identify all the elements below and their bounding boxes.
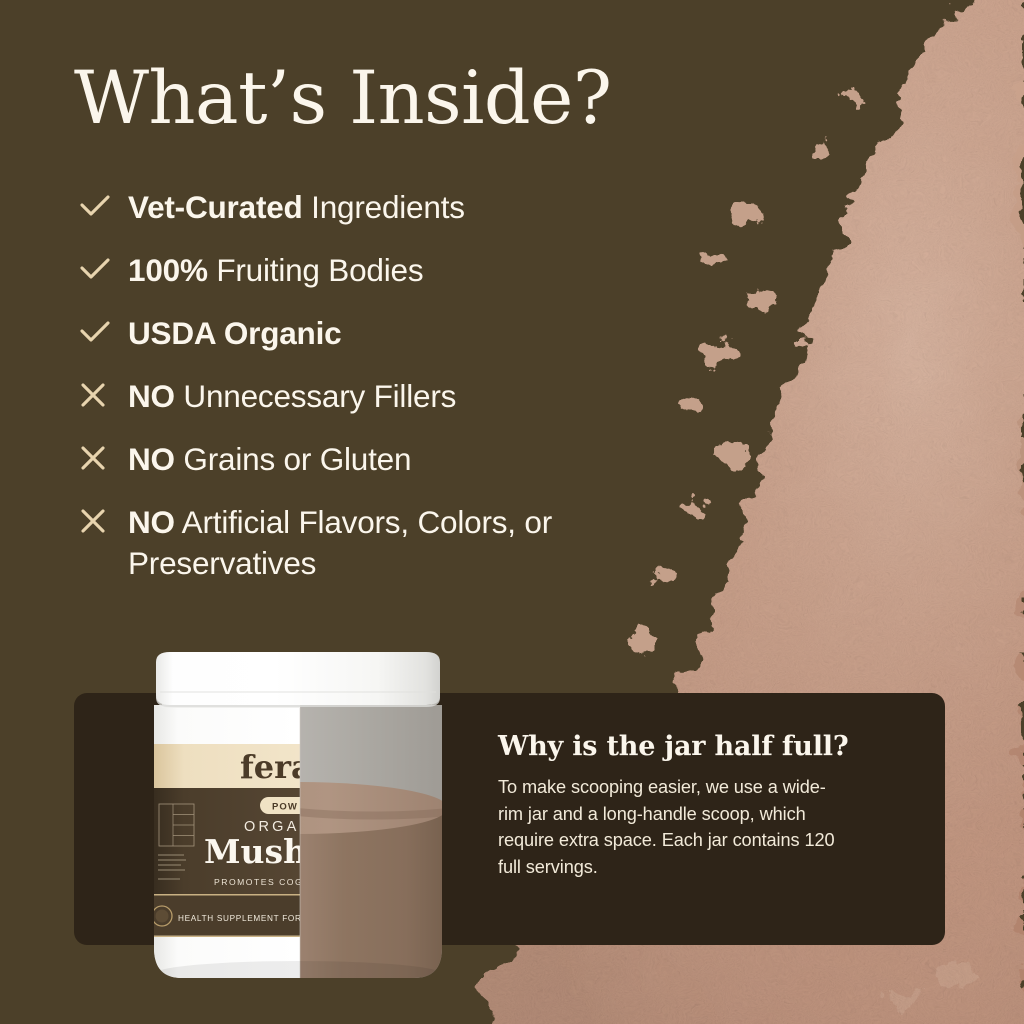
feature-rest: Grains or Gluten bbox=[175, 441, 411, 477]
feature-label: Vet-Curated Ingredients bbox=[128, 186, 465, 228]
feature-label: USDA Organic bbox=[128, 312, 341, 354]
product-jar: fera POW ORGA Mushr PROMOTES COGNITIV HE… bbox=[148, 648, 448, 984]
badge-label: POW bbox=[272, 802, 298, 813]
feature-rest: Unnecessary Fillers bbox=[175, 378, 456, 414]
feature-label: 100% Fruiting Bodies bbox=[128, 249, 423, 291]
jar-lid bbox=[156, 652, 440, 707]
check-icon bbox=[74, 312, 128, 352]
feature-item: NO Unnecessary Fillers bbox=[74, 375, 714, 417]
feature-emphasis: NO bbox=[128, 378, 175, 414]
feature-item: NO Artificial Flavors, Colors, or Preser… bbox=[74, 501, 714, 584]
feature-rest: Ingredients bbox=[303, 189, 465, 225]
check-icon bbox=[74, 186, 128, 226]
feature-item: USDA Organic bbox=[74, 312, 714, 354]
info-card-text: Why is the jar half full? To make scoopi… bbox=[498, 731, 898, 880]
feature-item: NO Grains or Gluten bbox=[74, 438, 714, 480]
cross-icon bbox=[74, 438, 128, 478]
feature-label: NO Unnecessary Fillers bbox=[128, 375, 456, 417]
feature-list: Vet-Curated Ingredients 100% Fruiting Bo… bbox=[74, 186, 714, 584]
feature-item: Vet-Curated Ingredients bbox=[74, 186, 714, 228]
feature-rest: Fruiting Bodies bbox=[208, 252, 424, 288]
product-jar-graphic: fera POW ORGA Mushr PROMOTES COGNITIV HE… bbox=[148, 648, 448, 984]
info-card-body: To make scooping easier, we use a wide-r… bbox=[498, 774, 848, 880]
feature-emphasis: Vet-Curated bbox=[128, 189, 303, 225]
feature-emphasis: USDA Organic bbox=[128, 315, 341, 351]
feature-rest: Artificial Flavors, Colors, or Preservat… bbox=[128, 504, 552, 581]
feature-emphasis: NO bbox=[128, 441, 175, 477]
feature-emphasis: 100% bbox=[128, 252, 208, 288]
check-icon bbox=[74, 249, 128, 289]
info-card-heading: Why is the jar half full? bbox=[498, 731, 898, 762]
cross-icon bbox=[74, 375, 128, 415]
page-title: What’s Inside? bbox=[74, 62, 774, 135]
feature-item: 100% Fruiting Bodies bbox=[74, 249, 714, 291]
feature-label: NO Grains or Gluten bbox=[128, 438, 411, 480]
feature-emphasis: NO bbox=[128, 504, 175, 540]
feature-label: NO Artificial Flavors, Colors, or Preser… bbox=[128, 501, 714, 584]
cross-icon bbox=[74, 501, 128, 541]
